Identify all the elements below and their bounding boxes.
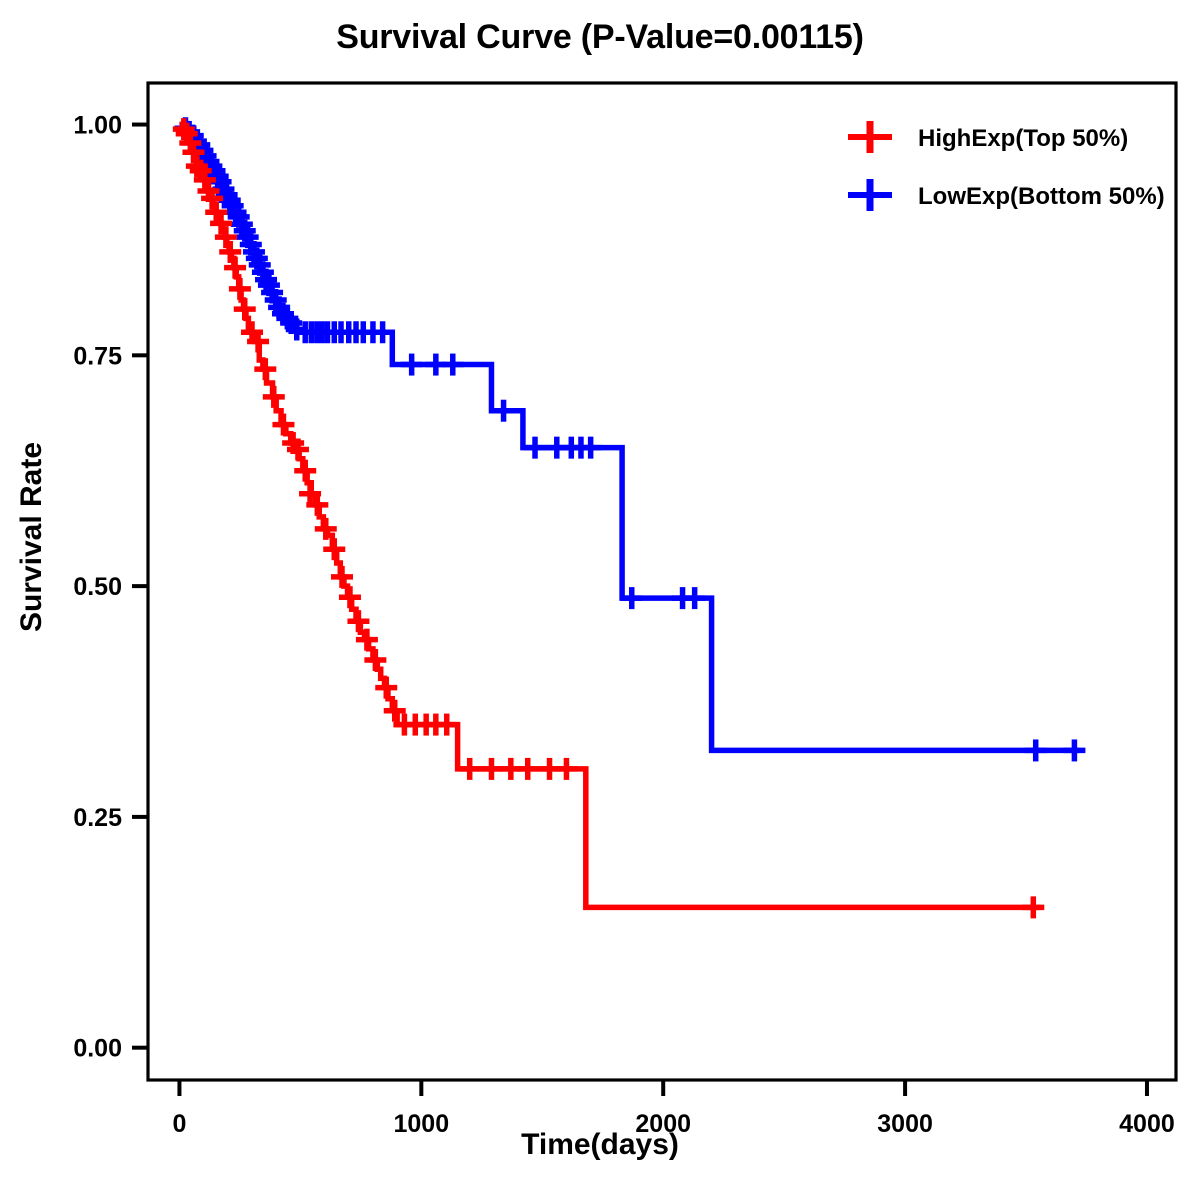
censor-marker	[517, 758, 539, 780]
censor-marker	[294, 460, 316, 482]
legend-item[interactable]: LowExp(Bottom 50%)	[848, 179, 1165, 211]
censor-marker	[555, 758, 577, 780]
legend-plus-icon	[848, 121, 892, 153]
censor-marker	[323, 538, 345, 560]
survival-curve-figure: Survival Curve (P-Value=0.00115) Surviva…	[0, 0, 1200, 1200]
series-high-exp	[173, 118, 1044, 918]
y-tick-label: 0.25	[73, 804, 122, 832]
censor-marker	[442, 354, 464, 376]
censor-marker	[480, 758, 502, 780]
censor-marker	[224, 257, 246, 279]
censor-marker	[234, 298, 256, 320]
censor-marker	[339, 586, 361, 608]
y-tick-label: 0.75	[73, 342, 122, 370]
plot-area: 01000200030004000 0.000.250.500.751.00 H…	[0, 0, 1200, 1200]
censor-marker	[401, 354, 423, 376]
y-axis-ticks: 0.000.250.500.751.00	[73, 112, 148, 1063]
censor-marker	[524, 437, 546, 459]
censor-marker	[263, 386, 285, 408]
x-tick-label: 4000	[1119, 1110, 1175, 1138]
survival-step-line	[179, 125, 1040, 908]
censor-marker	[1063, 739, 1085, 761]
y-tick-label: 0.00	[73, 1035, 122, 1063]
x-axis-ticks: 01000200030004000	[172, 1080, 1174, 1138]
legend-item[interactable]: HighExp(Top 50%)	[848, 121, 1128, 153]
x-tick-label: 1000	[394, 1110, 450, 1138]
axis-frame	[148, 83, 1176, 1080]
censor-marker	[219, 241, 241, 263]
y-tick-label: 1.00	[73, 112, 122, 140]
legend-plus-icon	[848, 179, 892, 211]
y-tick-label: 0.50	[73, 573, 122, 601]
legend-label: HighExp(Top 50%)	[918, 125, 1128, 152]
series-low-exp	[174, 117, 1085, 761]
x-tick-label: 2000	[635, 1110, 691, 1138]
survival-step-line	[179, 125, 1079, 751]
censor-marker	[229, 278, 251, 300]
censor-marker	[459, 758, 481, 780]
censor-marker	[684, 587, 706, 609]
censor-marker	[1022, 896, 1044, 918]
censor-marker	[1025, 739, 1047, 761]
x-tick-label: 3000	[877, 1110, 933, 1138]
legend: HighExp(Top 50%)LowExp(Bottom 50%)	[848, 121, 1165, 211]
censor-marker	[215, 226, 237, 248]
legend-label: LowExp(Bottom 50%)	[918, 183, 1165, 210]
x-tick-label: 0	[172, 1110, 186, 1138]
censor-marker	[436, 714, 458, 736]
censor-marker	[493, 400, 515, 422]
